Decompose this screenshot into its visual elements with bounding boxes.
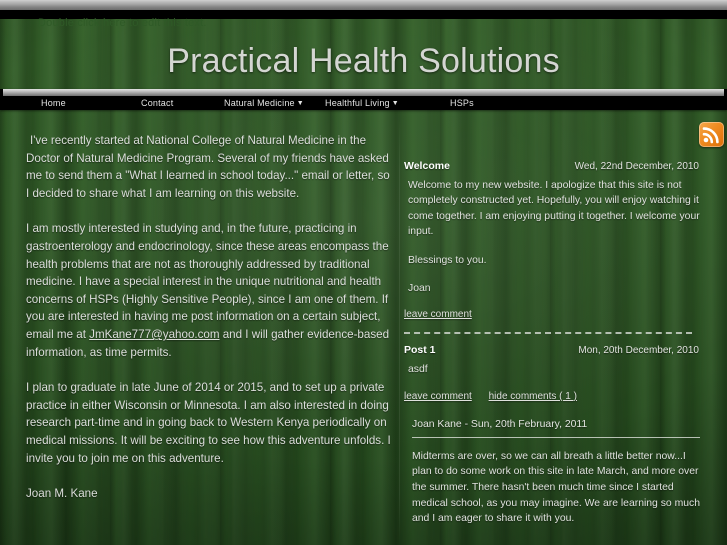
nav-item-hsps[interactable]: HSPs bbox=[450, 96, 474, 110]
post-paragraph: asdf bbox=[408, 362, 704, 377]
article-column: I've recently started at National Colleg… bbox=[26, 132, 392, 503]
blog-post: Welcome Wed, 22nd December, 2010 Welcome… bbox=[404, 160, 704, 320]
blog-post: Post 1 Mon, 20th December, 2010 asdf lea… bbox=[404, 344, 704, 526]
navbar-sheen bbox=[3, 89, 724, 96]
rss-row bbox=[404, 120, 704, 150]
post-title: Post 1 bbox=[404, 344, 436, 356]
comment-rule bbox=[412, 437, 700, 438]
article-paragraph-2: I am mostly interested in studying and, … bbox=[26, 220, 392, 361]
article-paragraph-1: I've recently started at National Colleg… bbox=[26, 132, 392, 202]
post-paragraph: Welcome to my new website. I apologize t… bbox=[408, 178, 704, 240]
post-body: asdf bbox=[404, 362, 704, 377]
nav-item-label: Natural Medicine bbox=[224, 98, 295, 108]
article-paragraph-3: I plan to graduate in late June of 2014 … bbox=[26, 379, 392, 467]
comment-body: Midterms are over, so we can all breath … bbox=[412, 449, 704, 527]
post-paragraph: Joan bbox=[408, 281, 704, 296]
nav-item-contact[interactable]: Contact bbox=[141, 96, 173, 110]
comment: Joan Kane - Sun, 20th February, 2011 Mid… bbox=[404, 419, 704, 527]
leave-comment-link[interactable]: leave comment bbox=[404, 391, 472, 402]
post-date: Wed, 22nd December, 2010 bbox=[575, 161, 704, 172]
post-separator bbox=[404, 332, 692, 334]
nav-item-natural-medicine[interactable]: Natural Medicine▼ bbox=[224, 96, 304, 111]
post-title: Welcome bbox=[404, 160, 450, 172]
nav-item-healthful-living[interactable]: Healthful Living▼ bbox=[325, 96, 399, 111]
nav-item-label: Home bbox=[41, 98, 66, 108]
rss-feed-icon[interactable] bbox=[699, 122, 724, 147]
main-navigation: Home Contact Natural Medicine▼ Healthful… bbox=[0, 89, 727, 110]
site-title: Practical Health Solutions bbox=[0, 42, 727, 81]
article-paragraph-2-before-link: I am mostly interested in studying and, … bbox=[26, 222, 389, 341]
nav-item-home[interactable]: Home bbox=[41, 96, 66, 110]
post-paragraph: Blessings to you. bbox=[408, 253, 704, 268]
nav-item-label: Contact bbox=[141, 98, 173, 108]
chevron-down-icon: ▼ bbox=[392, 97, 399, 111]
nav-item-label: HSPs bbox=[450, 98, 474, 108]
edit-text-hint[interactable]: Double click here to edit this text. bbox=[38, 17, 207, 29]
column-divider bbox=[399, 120, 400, 545]
top-chrome-bar bbox=[0, 0, 727, 10]
chevron-down-icon: ▼ bbox=[297, 97, 304, 111]
post-actions: leave comment hide comments ( 1 ) bbox=[404, 391, 704, 402]
leave-comment-link[interactable]: leave comment bbox=[404, 309, 472, 320]
hide-comments-link[interactable]: hide comments ( 1 ) bbox=[489, 391, 577, 402]
email-link[interactable]: JmKane777@yahoo.com bbox=[89, 328, 219, 341]
comment-meta: Joan Kane - Sun, 20th February, 2011 bbox=[412, 419, 704, 430]
page-root: Double click here to edit this text. Pra… bbox=[0, 0, 727, 545]
post-date: Mon, 20th December, 2010 bbox=[578, 345, 704, 356]
post-actions: leave comment bbox=[404, 309, 704, 320]
blog-column: Welcome Wed, 22nd December, 2010 Welcome… bbox=[404, 120, 704, 527]
nav-items: Home Contact Natural Medicine▼ Healthful… bbox=[0, 96, 727, 110]
nav-item-label: Healthful Living bbox=[325, 98, 390, 108]
post-body: Welcome to my new website. I apologize t… bbox=[404, 178, 704, 296]
article-signature: Joan M. Kane bbox=[26, 485, 392, 503]
post-header: Post 1 Mon, 20th December, 2010 bbox=[404, 344, 704, 356]
post-header: Welcome Wed, 22nd December, 2010 bbox=[404, 160, 704, 172]
